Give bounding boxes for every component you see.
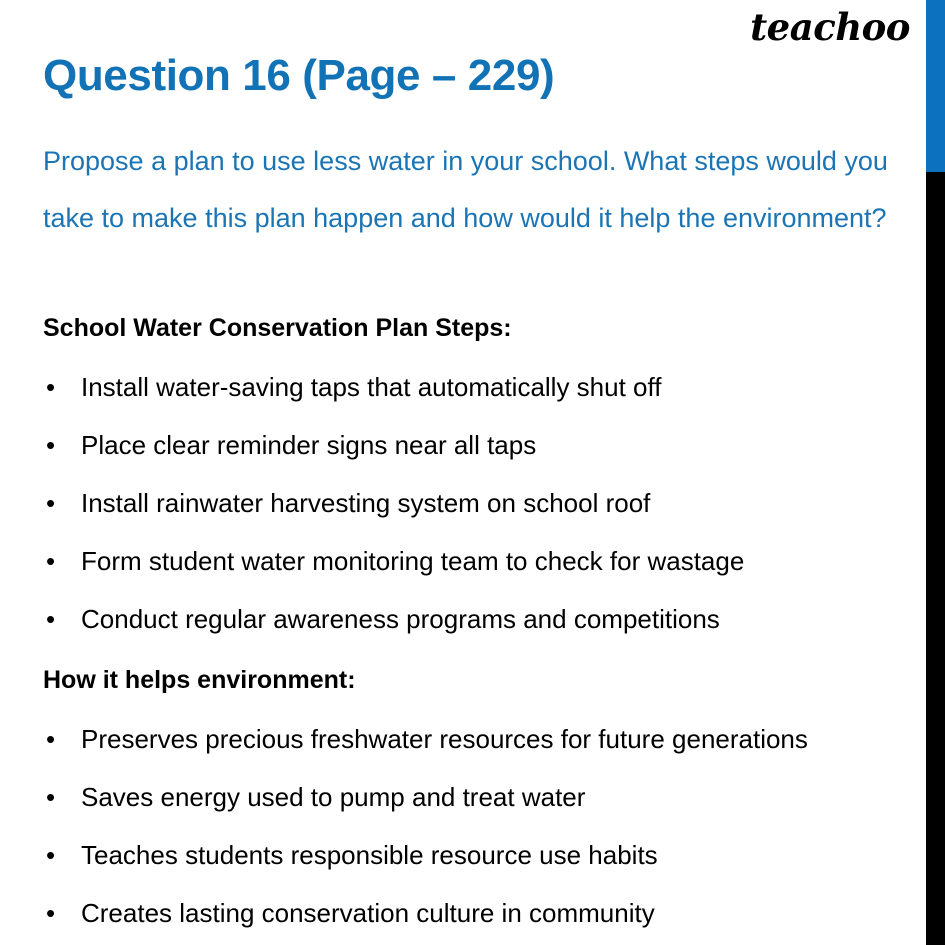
bullet-point-icon: • <box>46 782 55 812</box>
section-heading-how-it-helps: How it helps environment: <box>43 668 356 693</box>
bullet-point-icon: • <box>46 724 55 754</box>
teachoo-logo: teachoo <box>750 9 910 46</box>
page-title: Question 16 (Page – 229) <box>43 52 554 100</box>
list-item: • Creates lasting conservation culture i… <box>43 898 905 945</box>
list-item: • Saves energy used to pump and treat wa… <box>43 782 905 840</box>
list-item-label: Teaches students responsible resource us… <box>81 840 658 870</box>
bullet-point-icon: • <box>46 840 55 870</box>
bullet-point-icon: • <box>46 898 55 928</box>
list-item-label: Install water-saving taps that automatic… <box>81 372 661 402</box>
list-item: • Place clear reminder signs near all ta… <box>43 430 905 488</box>
bullet-point-icon: • <box>46 372 55 402</box>
list-item-label: Place clear reminder signs near all taps <box>81 430 536 460</box>
list-item: • Preserves precious freshwater resource… <box>43 724 905 782</box>
bullet-point-icon: • <box>46 430 55 460</box>
list-item: • Install rainwater harvesting system on… <box>43 488 905 546</box>
list-item-label: Conduct regular awareness programs and c… <box>81 604 720 634</box>
edge-bar-black-segment <box>926 172 945 945</box>
list-item-label: Form student water monitoring team to ch… <box>81 546 744 576</box>
list-item-label: Creates lasting conservation culture in … <box>81 898 655 928</box>
right-edge-decoration-bar <box>926 0 945 945</box>
list-item: • Form student water monitoring team to … <box>43 546 905 604</box>
bullet-list-how-it-helps: • Preserves precious freshwater resource… <box>43 724 905 945</box>
bullet-point-icon: • <box>46 488 55 518</box>
list-item: • Install water-saving taps that automat… <box>43 372 905 430</box>
list-item-label: Saves energy used to pump and treat wate… <box>81 782 585 812</box>
list-item: • Conduct regular awareness programs and… <box>43 604 905 662</box>
list-item-label: Install rainwater harvesting system on s… <box>81 488 650 518</box>
question-prompt-text: Propose a plan to use less water in your… <box>43 133 903 247</box>
edge-bar-blue-segment <box>926 0 945 172</box>
section-heading-plan-steps: School Water Conservation Plan Steps: <box>43 316 512 341</box>
list-item-label: Preserves precious freshwater resources … <box>81 724 808 754</box>
list-item: • Teaches students responsible resource … <box>43 840 905 898</box>
slide-canvas: teachoo Question 16 (Page – 229) Propose… <box>0 0 945 945</box>
bullet-point-icon: • <box>46 546 55 576</box>
bullet-list-plan-steps: • Install water-saving taps that automat… <box>43 372 905 662</box>
bullet-point-icon: • <box>46 604 55 634</box>
